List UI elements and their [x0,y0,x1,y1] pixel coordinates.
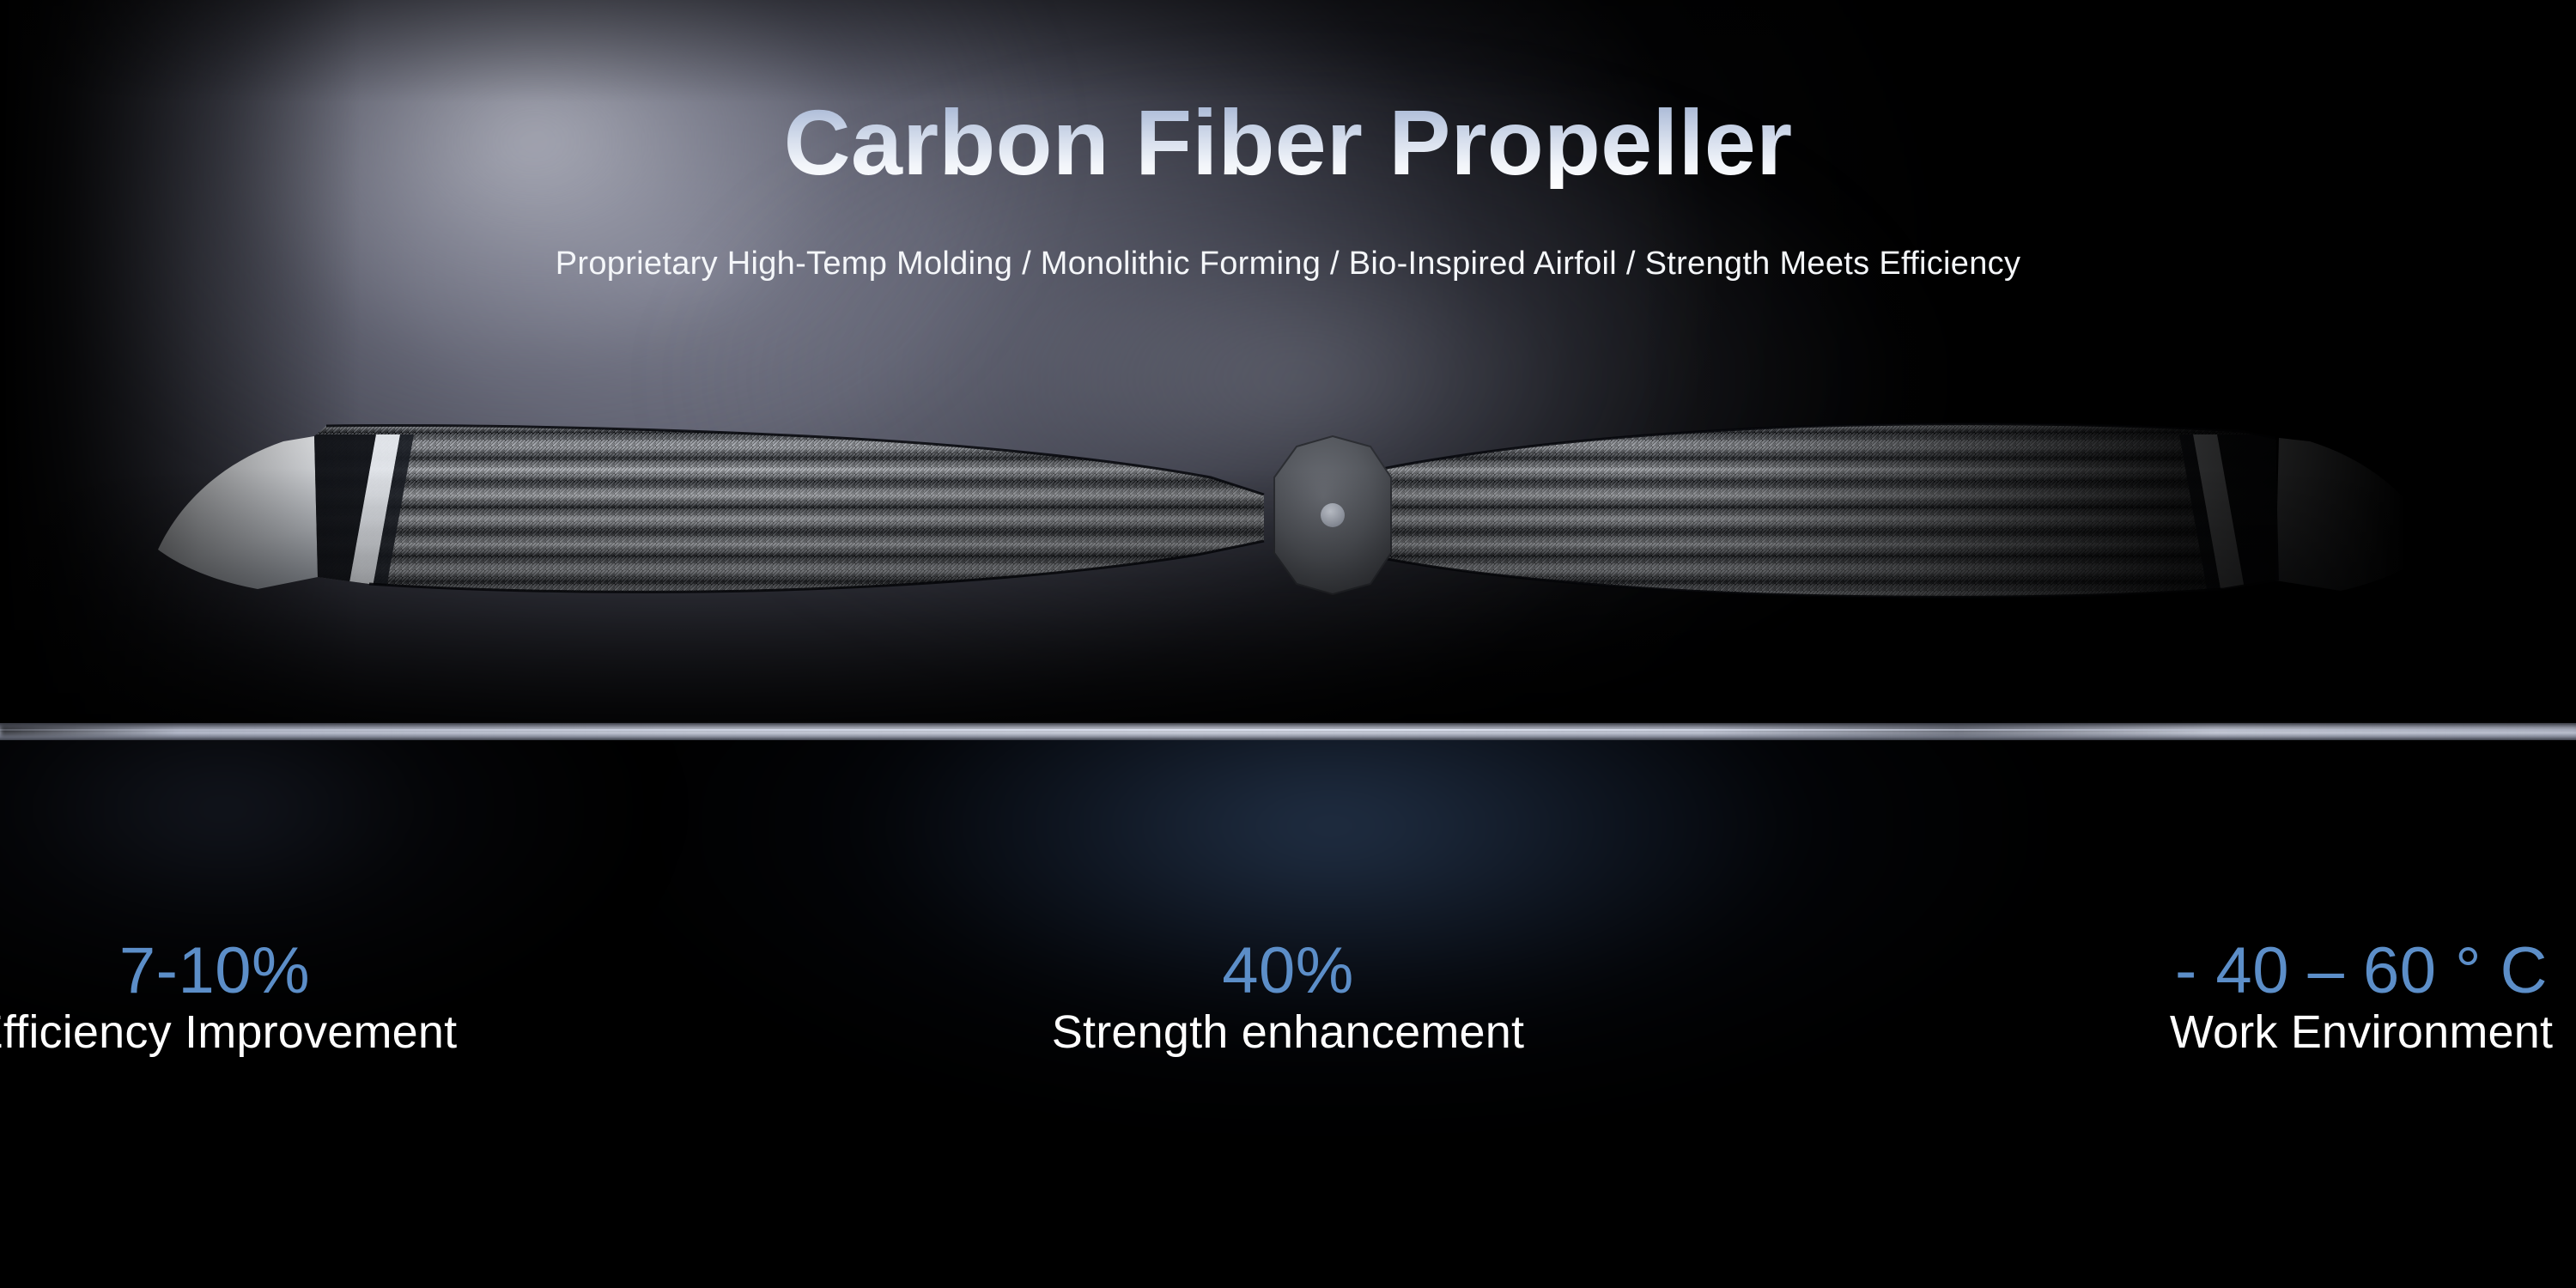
shelf-highlight-line [0,729,2576,731]
stage-vignette-bottom [0,468,2576,726]
stat-value: 40% [859,938,1717,1005]
stats-row: 7-10% Efficiency Improvement 40% Strengt… [0,938,2576,1056]
stat-value: - 40 – 60 ° C [1932,938,2576,1005]
stat-label: Efficiency Improvement [0,1008,644,1057]
stat-strength: 40% Strength enhancement [859,938,1717,1056]
stat-label: Work Environment [1932,1008,2576,1057]
stats-background-glow [601,740,2061,1127]
product-stage: Carbon Fiber Propeller Proprietary High-… [0,0,2576,726]
stat-efficiency: 7-10% Efficiency Improvement [0,938,644,1056]
shelf-sheen [0,726,2576,736]
stage-vignette-top [0,0,2576,103]
page-title: Carbon Fiber Propeller [0,96,2576,189]
stat-work-environment: - 40 – 60 ° C Work Environment [1932,938,2576,1056]
stat-value: 7-10% [0,938,644,1005]
page-subtitle: Proprietary High-Temp Molding / Monolith… [0,246,2576,283]
poster-canvas: Carbon Fiber Propeller Proprietary High-… [0,0,2576,1288]
stat-label: Strength enhancement [859,1008,1717,1057]
